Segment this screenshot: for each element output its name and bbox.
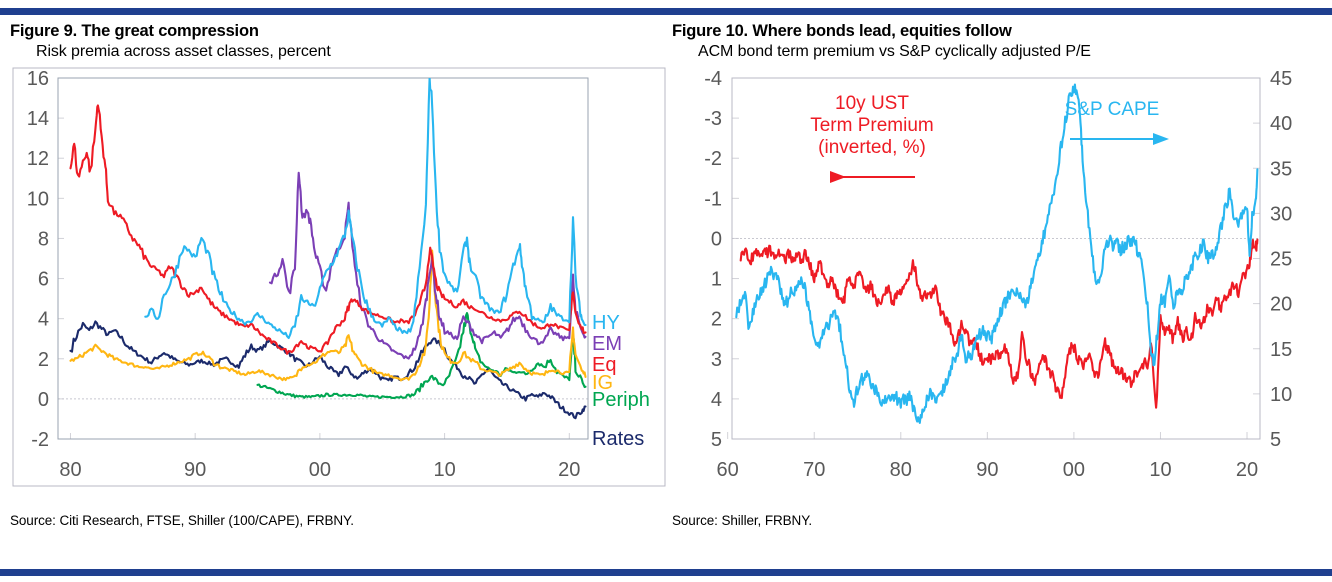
figure-10-source: Source: Shiller, FRBNY. — [672, 513, 1332, 528]
y-tick-label-left: 1 — [711, 269, 722, 291]
x-tick-label: 00 — [1063, 459, 1085, 481]
annotation-ust-line2: Term Premium — [810, 115, 934, 136]
y-tick-label-right: 5 — [1270, 429, 1281, 451]
y-tick-label-right: 10 — [1270, 384, 1292, 406]
y-tick-label-left: -4 — [704, 68, 722, 90]
y-tick-label-right: 25 — [1270, 249, 1292, 271]
x-tick-label: 60 — [717, 459, 739, 481]
figure-9-svg: -202468101214168090001020HYEMEqIGPeriphR… — [10, 67, 670, 507]
figure-9-subtitle: Risk premia across asset classes, percen… — [36, 43, 670, 61]
annotation-ust-line1: 10y UST — [835, 93, 909, 114]
y-tick-label-right: 35 — [1270, 158, 1292, 180]
legend-label-periph: Periph — [592, 389, 650, 411]
y-tick-label-left: -3 — [704, 108, 722, 130]
figure-9-plot-border — [58, 78, 588, 439]
y-tick-label: 6 — [38, 269, 49, 291]
x-tick-label: 80 — [59, 459, 81, 481]
y-tick-label-left: 0 — [711, 228, 722, 250]
figure-10-subtitle: ACM bond term premium vs S&P cyclically … — [698, 43, 1332, 61]
figure-10-svg: -4-3-2-101234551015202530354045607080900… — [672, 67, 1332, 507]
figure-9-chart: -202468101214168090001020HYEMEqIGPeriphR… — [10, 67, 670, 507]
y-tick-label: 16 — [27, 68, 49, 90]
y-tick-label-left: 4 — [711, 389, 722, 411]
y-tick-label: 4 — [38, 309, 49, 331]
y-tick-label-left: 2 — [711, 309, 722, 331]
x-tick-label: 00 — [309, 459, 331, 481]
y-tick-label-right: 15 — [1270, 339, 1292, 361]
top-accent-bar — [0, 8, 1332, 15]
y-tick-label: 8 — [38, 228, 49, 250]
annotation-cape-label: S&P CAPE — [1065, 99, 1160, 120]
x-tick-label: 20 — [558, 459, 580, 481]
figure-10-chart: -4-3-2-101234551015202530354045607080900… — [672, 67, 1332, 507]
x-tick-label: 10 — [433, 459, 455, 481]
y-tick-label: 12 — [27, 148, 49, 170]
legend-label-rates: Rates — [592, 428, 644, 450]
x-tick-label: 90 — [976, 459, 998, 481]
y-tick-label: -2 — [31, 429, 49, 451]
figure-9-panel: Figure 9. The great compression Risk pre… — [10, 22, 670, 567]
y-tick-label: 10 — [27, 188, 49, 210]
y-tick-label-left: -1 — [704, 188, 722, 210]
x-tick-label: 70 — [803, 459, 825, 481]
y-tick-label-left: -2 — [704, 148, 722, 170]
y-tick-label: 2 — [38, 349, 49, 371]
x-tick-label: 90 — [184, 459, 206, 481]
x-tick-label: 10 — [1149, 459, 1171, 481]
y-tick-label-left: 5 — [711, 429, 722, 451]
figure-10-title: Figure 10. Where bonds lead, equities fo… — [672, 22, 1332, 41]
y-tick-label-left: 3 — [711, 349, 722, 371]
x-tick-label: 80 — [890, 459, 912, 481]
bottom-accent-bar — [0, 569, 1332, 576]
figure-9-source: Source: Citi Research, FTSE, Shiller (10… — [10, 513, 670, 528]
figure-9-title: Figure 9. The great compression — [10, 22, 670, 41]
x-tick-label: 20 — [1236, 459, 1258, 481]
y-tick-label: 14 — [27, 108, 49, 130]
y-tick-label-right: 30 — [1270, 203, 1292, 225]
series-hy — [145, 78, 585, 338]
figure-9-frame — [13, 68, 665, 486]
legend-label-em: EM — [592, 333, 622, 355]
figure-10-panel: Figure 10. Where bonds lead, equities fo… — [672, 22, 1332, 567]
y-tick-label-right: 45 — [1270, 68, 1292, 90]
y-tick-label-right: 40 — [1270, 113, 1292, 135]
annotation-ust-line3: (inverted, %) — [818, 137, 926, 158]
y-tick-label: 0 — [38, 389, 49, 411]
y-tick-label-right: 20 — [1270, 294, 1292, 316]
series-term-premium — [741, 240, 1258, 408]
legend-label-hy: HY — [592, 312, 620, 334]
